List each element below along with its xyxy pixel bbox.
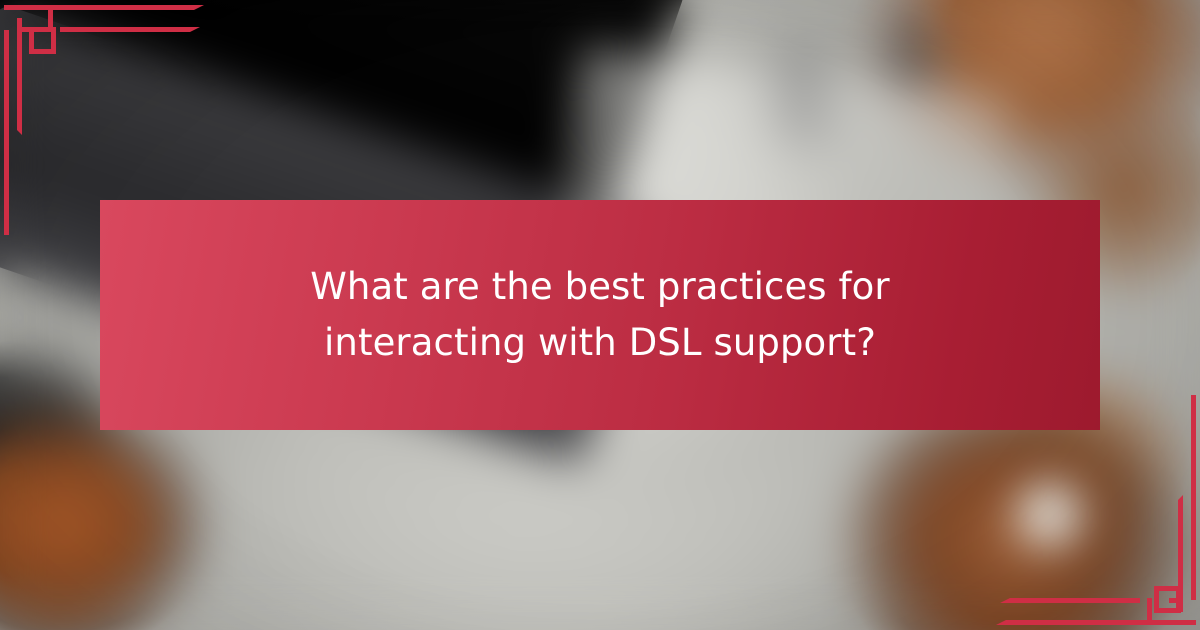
deco-tl-vertical-inner (17, 18, 22, 135)
deco-br-vertical-outer (1191, 395, 1196, 600)
question-banner: What are the best practices for interact… (100, 200, 1100, 430)
deco-br-horizontal-second (1000, 598, 1140, 603)
question-title: What are the best practices for interact… (220, 259, 980, 371)
deco-tl-connector-top (4, 5, 52, 10)
deco-tl-horizontal-top (48, 5, 204, 10)
deco-br-square-stub (1169, 598, 1183, 603)
deco-br-connector-bottom (1148, 620, 1196, 625)
deco-br-horizontal-bottom (996, 620, 1152, 625)
deco-br-bracket-vertical (1147, 598, 1152, 625)
deco-tl-horizontal-second (60, 27, 200, 32)
share-card: What are the best practices for interact… (0, 0, 1200, 630)
deco-tl-square (29, 27, 56, 54)
deco-tl-square-stub (17, 27, 31, 32)
deco-tl-vertical-outer (4, 30, 9, 235)
